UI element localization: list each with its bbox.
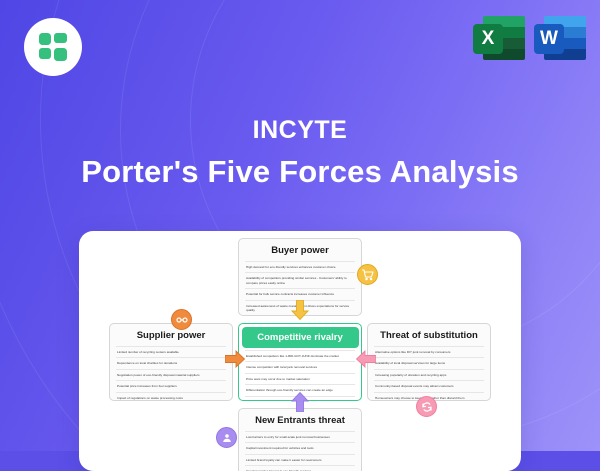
four-square-grid-logo-icon xyxy=(39,33,68,62)
arrow-down-icon xyxy=(291,300,309,320)
force-item: Dependence on local charities for donati… xyxy=(116,357,226,368)
word-icon[interactable]: W xyxy=(534,12,586,64)
force-item-list: Alternative options like DIY junk remova… xyxy=(368,346,490,401)
force-item: Potential price increases from fuel supp… xyxy=(116,380,226,391)
excel-icon[interactable]: X xyxy=(473,12,525,64)
recycle-swap-icon xyxy=(416,396,437,417)
force-item-list: Limited number of recycling centers avai… xyxy=(110,346,232,401)
force-title: Buyer power xyxy=(239,239,361,261)
logo-square xyxy=(54,48,67,61)
force-item: Low barriers to entry for small-scale ju… xyxy=(245,431,355,442)
shopping-cart-icon xyxy=(357,264,378,285)
page-heading: INCYTE Porter's Five Forces Analysis xyxy=(0,116,600,190)
force-item: Availability of competitors providing si… xyxy=(245,272,355,288)
arrow-right-icon xyxy=(225,350,245,368)
force-item: Price wars may occur due to market satur… xyxy=(245,373,355,384)
force-box-supplier-power[interactable]: Supplier power Limited number of recycli… xyxy=(109,323,233,401)
force-item: Impact of regulations on waste processin… xyxy=(116,392,226,401)
logo-square xyxy=(39,33,51,45)
diagram-card: Buyer power High demand for eco-friendly… xyxy=(79,231,521,471)
force-item: Alternative options like DIY junk remova… xyxy=(374,346,484,357)
force-title: Supplier power xyxy=(110,324,232,346)
word-letter: W xyxy=(534,24,564,54)
person-icon xyxy=(216,427,237,448)
force-title: New Entrants threat xyxy=(239,409,361,431)
force-item: Intense competition with local junk remo… xyxy=(245,361,355,372)
force-box-threat-of-substitution[interactable]: Threat of substitution Alternative optio… xyxy=(367,323,491,401)
brand-logo xyxy=(24,18,82,76)
company-name: INCYTE xyxy=(0,116,600,145)
force-item: High demand for eco-friendly services en… xyxy=(245,261,355,272)
force-title: Competitive rivalry xyxy=(242,327,359,348)
force-item: Capital investment required for vehicles… xyxy=(245,442,355,453)
force-item-list: Low barriers to entry for small-scale ju… xyxy=(239,431,361,471)
force-box-competitive-rivalry[interactable]: Competitive rivalry Established competit… xyxy=(238,323,362,401)
export-format-icons: X W xyxy=(473,12,586,64)
force-item: Established competitors like 1-800-GOT-J… xyxy=(245,350,355,361)
force-item: Increasing popularity of donation and re… xyxy=(374,369,484,380)
force-item: Availability of local disposal services … xyxy=(374,357,484,368)
force-item: Negotiation power of eco-friendly dispos… xyxy=(116,369,226,380)
excel-letter: X xyxy=(473,24,503,54)
porters-five-forces-diagram: Buyer power High demand for eco-friendly… xyxy=(79,231,521,471)
force-item: Growing market interest in eco-friendly … xyxy=(245,465,355,471)
logo-square xyxy=(54,33,67,43)
force-item: Limited number of recycling centers avai… xyxy=(116,346,226,357)
force-box-new-entrants-threat[interactable]: New Entrants threat Low barriers to entr… xyxy=(238,408,362,471)
page-title: Porter's Five Forces Analysis xyxy=(0,154,600,190)
arrow-up-icon xyxy=(291,392,309,412)
force-title: Threat of substitution xyxy=(368,324,490,346)
arrow-left-icon xyxy=(356,350,376,368)
supplier-link-icon xyxy=(171,309,192,330)
force-item: Potential for bulk service contracts inc… xyxy=(245,288,355,299)
force-item: Community-based disposal events may attr… xyxy=(374,380,484,391)
force-item: Limited brand loyalty can make it easier… xyxy=(245,454,355,465)
logo-square xyxy=(39,48,51,59)
